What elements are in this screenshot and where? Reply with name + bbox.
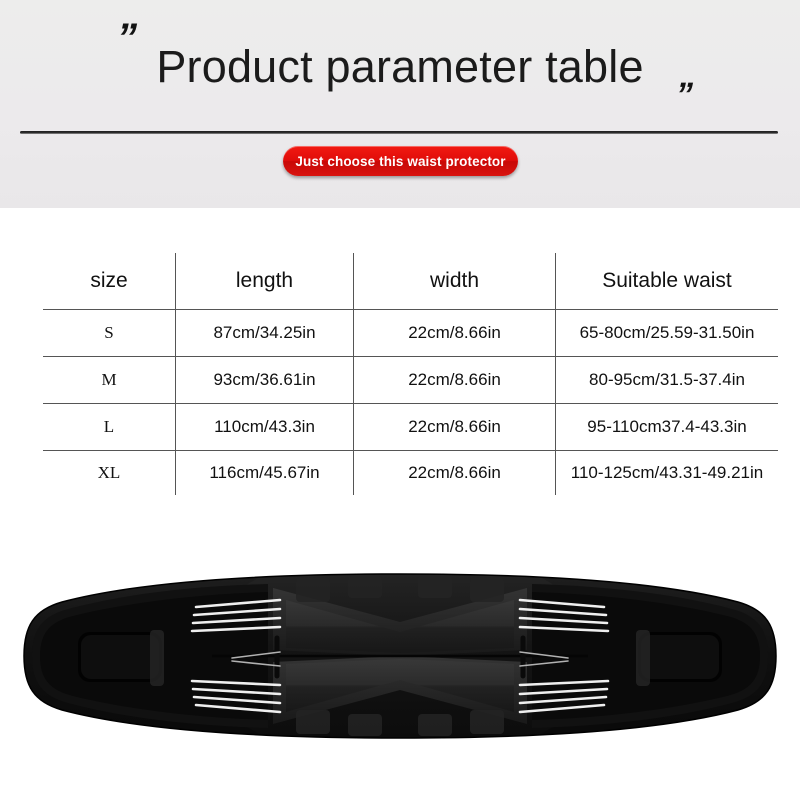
table-header-row: size length width Suitable waist	[43, 253, 779, 310]
product-image-area	[0, 510, 800, 800]
table-row: XL 116cm/45.67in 22cm/8.66in 110-125cm/4…	[43, 451, 779, 496]
cell-waist: 95-110cm37.4-43.3in	[556, 404, 779, 451]
cell-width: 22cm/8.66in	[354, 357, 556, 404]
cell-size: M	[43, 357, 176, 404]
cell-waist: 80-95cm/31.5-37.4in	[556, 357, 779, 404]
table-row: L 110cm/43.3in 22cm/8.66in 95-110cm37.4-…	[43, 404, 779, 451]
cell-size: L	[43, 404, 176, 451]
header-divider	[20, 131, 778, 134]
cell-length: 87cm/34.25in	[176, 310, 354, 357]
column-header-width: width	[354, 253, 556, 310]
cell-size: S	[43, 310, 176, 357]
title-block: ” Product parameter table ”	[0, 0, 800, 120]
velcro-patch-left	[78, 630, 164, 686]
cell-length: 93cm/36.61in	[176, 357, 354, 404]
table-header: size length width Suitable waist	[43, 253, 779, 310]
header-banner: ” Product parameter table ” Just choose …	[0, 0, 800, 208]
cell-waist: 65-80cm/25.59-31.50in	[556, 310, 779, 357]
cell-length: 116cm/45.67in	[176, 451, 354, 496]
cell-waist: 110-125cm/43.31-49.21in	[556, 451, 779, 496]
table-row: M 93cm/36.61in 22cm/8.66in 80-95cm/31.5-…	[43, 357, 779, 404]
cell-width: 22cm/8.66in	[354, 451, 556, 496]
velcro-patch-right	[636, 630, 722, 686]
cell-width: 22cm/8.66in	[354, 404, 556, 451]
cell-length: 110cm/43.3in	[176, 404, 354, 451]
column-header-size: size	[43, 253, 176, 310]
column-header-length: length	[176, 253, 354, 310]
choose-waist-protector-badge[interactable]: Just choose this waist protector	[283, 146, 518, 176]
product-parameter-table: size length width Suitable waist S 87cm/…	[42, 252, 779, 496]
table-row: S 87cm/34.25in 22cm/8.66in 65-80cm/25.59…	[43, 310, 779, 357]
cell-width: 22cm/8.66in	[354, 310, 556, 357]
cell-size: XL	[43, 451, 176, 496]
waist-protector-belt-image	[18, 560, 782, 750]
column-header-suitable-waist: Suitable waist	[556, 253, 779, 310]
table-body: S 87cm/34.25in 22cm/8.66in 65-80cm/25.59…	[43, 310, 779, 496]
